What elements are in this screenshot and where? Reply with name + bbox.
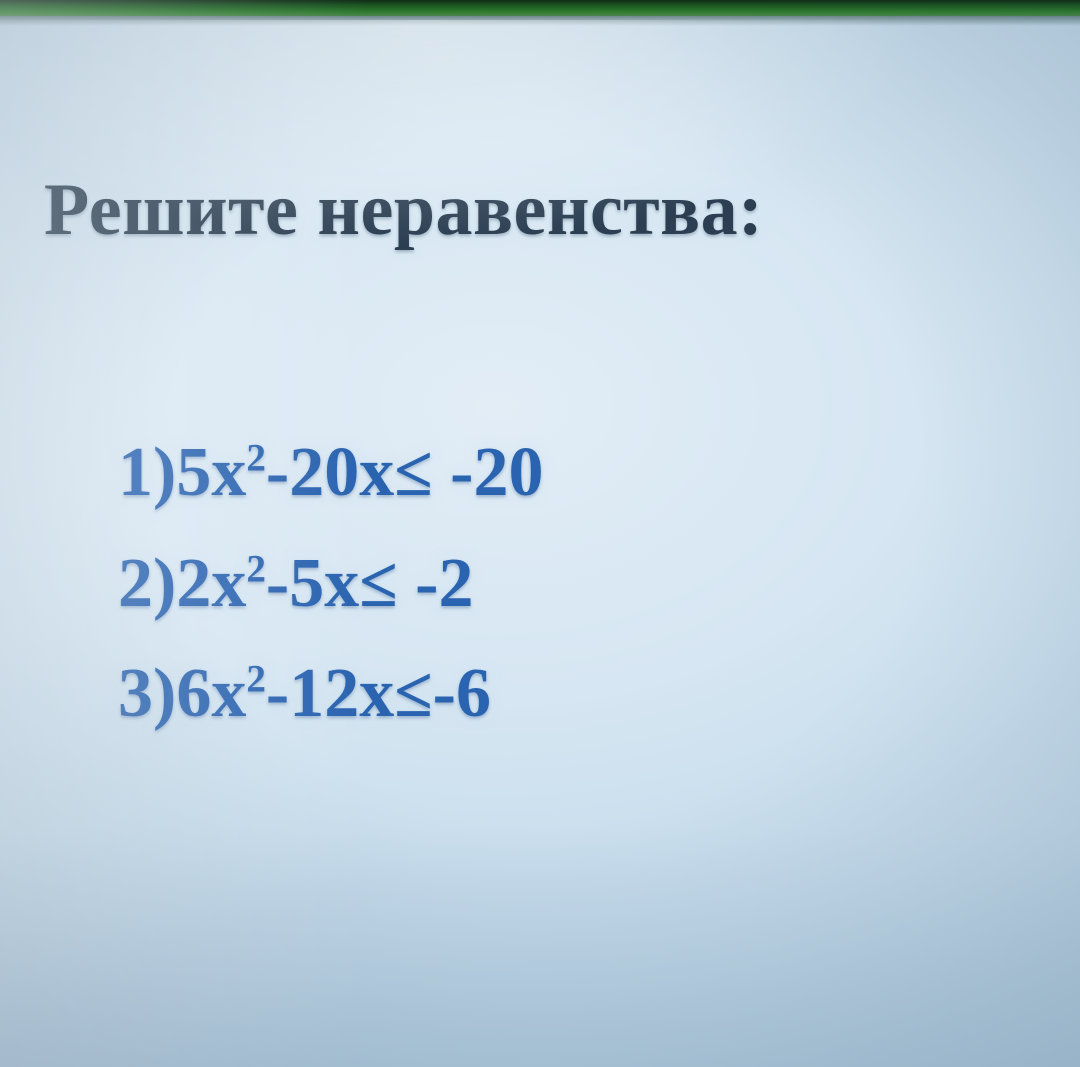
list-item: 2)2x2-5x≤ -2: [118, 529, 998, 640]
task-rhs: -6: [433, 655, 491, 732]
task-lhs-rest: -5x: [266, 545, 359, 622]
task-lhs-rest: -20x: [266, 434, 394, 511]
task-rhs: -20: [433, 434, 544, 511]
task-number: 3): [118, 655, 176, 732]
projected-slide: Решите неравенства: 1)5x2-20x≤ -20 2)2x2…: [0, 0, 1080, 1067]
task-lhs-term: 5x: [176, 434, 246, 511]
task-lhs-term: 6x: [176, 655, 246, 732]
task-number: 1): [118, 434, 176, 511]
task-operator: ≤: [394, 655, 432, 732]
task-lhs-rest: -12x: [266, 655, 394, 732]
task-operator: ≤: [359, 545, 397, 622]
task-exponent: 2: [246, 547, 266, 590]
screen-bottom-shading: [0, 827, 1080, 1067]
board-edge-shadow: [0, 16, 1080, 26]
page-title: Решите неравенства:: [44, 168, 763, 253]
task-exponent: 2: [246, 437, 266, 480]
task-list: 1)5x2-20x≤ -20 2)2x2-5x≤ -2 3)6x2-12x≤-6: [118, 418, 998, 750]
task-lhs-term: 2x: [176, 545, 246, 622]
task-rhs: -2: [398, 545, 474, 622]
task-operator: ≤: [394, 434, 432, 511]
board-top-edge: [0, 0, 1080, 16]
list-item: 3)6x2-12x≤-6: [118, 639, 998, 750]
task-exponent: 2: [246, 658, 266, 701]
list-item: 1)5x2-20x≤ -20: [118, 418, 998, 529]
task-number: 2): [118, 545, 176, 622]
